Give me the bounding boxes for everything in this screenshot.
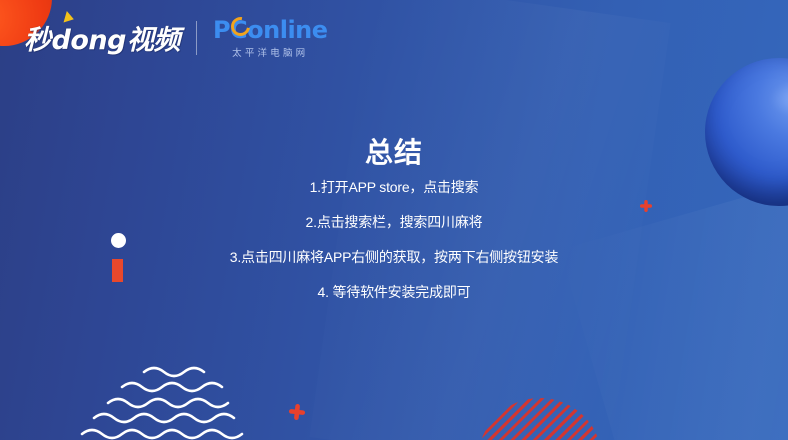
pconline-letter-c: C [230, 16, 247, 44]
sphere-highlight [770, 82, 788, 116]
summary-step-4: 4. 等待软件安装完成即可 [0, 275, 788, 310]
logo-left-part3: 视频 [127, 18, 180, 57]
pconline-subtitle: 太平洋电脑网 [232, 45, 308, 59]
miaodong-video-logo: 秒 dong 视频 [24, 18, 180, 57]
logo-left-part2: dong [51, 25, 127, 56]
pconline-logo: P C online 太平洋电脑网 [213, 16, 328, 59]
logo-left-part1: 秒 [24, 18, 51, 57]
logo-bar: 秒 dong 视频 P C online 太平洋电脑网 [24, 16, 328, 59]
logo-divider [196, 21, 197, 55]
summary-step-2: 2.点击搜索栏，搜索四川麻将 [0, 205, 788, 240]
striped-half-circle-red-icon [478, 398, 602, 440]
summary-step-1: 1.打开APP store，点击搜索 [0, 170, 788, 205]
summary-block: 总结 1.打开APP store，点击搜索 2.点击搜索栏，搜索四川麻将 3.点… [0, 136, 788, 310]
pconline-wordmark: P C online [213, 16, 328, 44]
summary-step-3: 3.点击四川麻将APP右侧的获取，按两下右侧按钮安装 [0, 240, 788, 275]
pconline-letter-p: P [213, 16, 230, 44]
star-red-bottom-icon [288, 403, 306, 421]
pconline-word-rest: online [247, 16, 327, 44]
video-slide: 秒 dong 视频 P C online 太平洋电脑网 总结 1.打开APP s… [0, 0, 788, 440]
play-triangle-icon [63, 11, 75, 25]
summary-title: 总结 [0, 136, 788, 170]
wave-lines-white-icon [52, 358, 252, 440]
